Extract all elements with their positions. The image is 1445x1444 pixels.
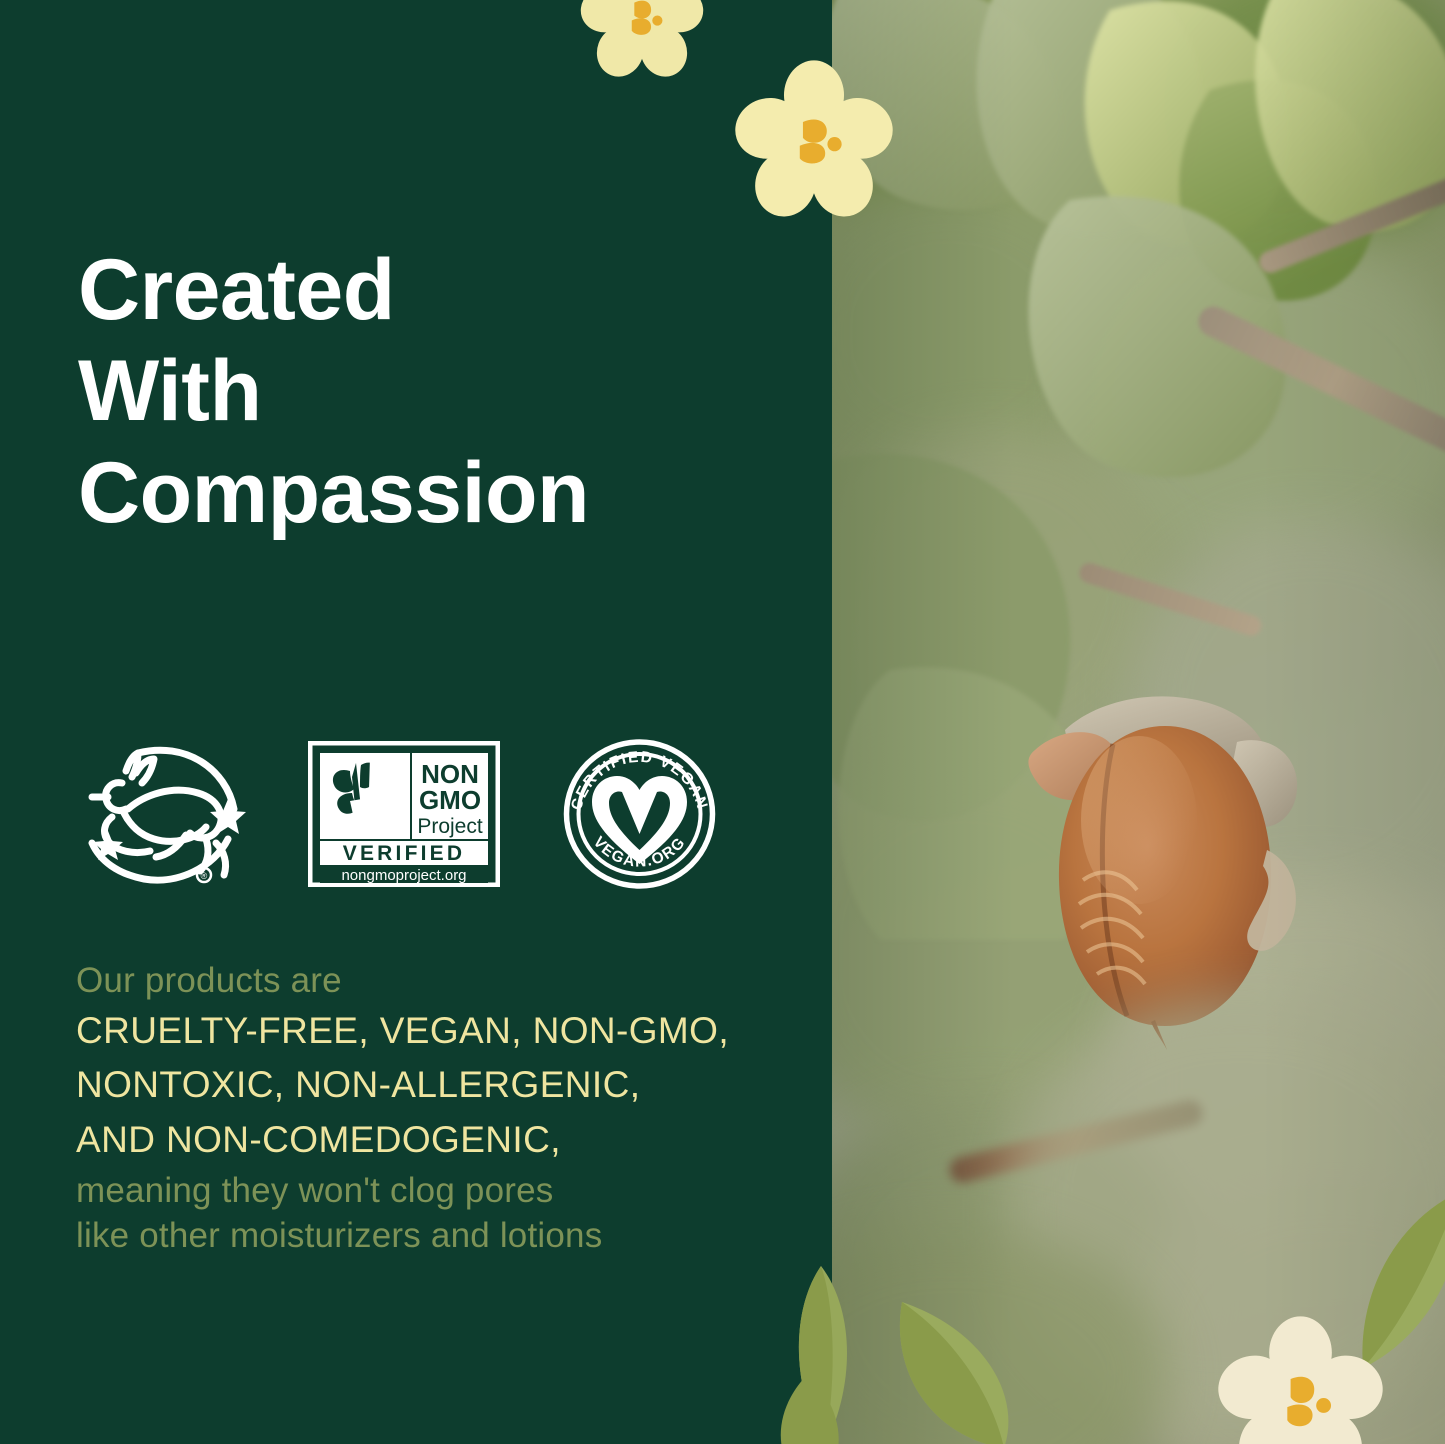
flower-top-left-icon [578, 0, 706, 82]
copy-caps-line-2: NONTOXIC, NON-ALLERGENIC, [76, 1058, 836, 1113]
non-gmo-line-project: Project [417, 815, 483, 838]
headline-line-1: Created [78, 240, 818, 341]
copy-lead: Our products are [76, 958, 836, 1004]
non-gmo-line-gmo: GMO [419, 785, 481, 815]
flower-top-right-icon [735, 62, 893, 220]
copy-caps-line-3: AND NON-COMEDOGENIC, [76, 1113, 836, 1168]
registered-mark: ® [201, 871, 208, 881]
flower-bottom-right-icon [1218, 1318, 1383, 1444]
headline-line-3: Compassion [78, 443, 818, 544]
certification-badges: ® NON G [78, 738, 717, 895]
page-title: Created With Compassion [78, 240, 818, 544]
non-gmo-badge: NON GMO Project VERIFIED nongmoproject.o… [308, 741, 500, 892]
copy-caps-line-1: CRUELTY-FREE, VEGAN, NON-GMO, [76, 1004, 836, 1059]
copy-tail-line-2: like other moisturizers and lotions [76, 1213, 836, 1259]
certified-vegan-badge: CERTIFIED VEGAN VEGAN.ORG [562, 738, 717, 895]
body-copy: Our products are CRUELTY-FREE, VEGAN, NO… [76, 958, 836, 1259]
copy-tail: meaning they won't clog pores like other… [76, 1168, 836, 1259]
jojoba-photo [830, 0, 1445, 1444]
photo-vignette [830, 0, 1445, 1444]
copy-tail-line-1: meaning they won't clog pores [76, 1168, 836, 1214]
non-gmo-line-url: nongmoproject.org [341, 867, 466, 884]
non-gmo-line-verified: VERIFIED [343, 842, 465, 865]
created-with-compassion-poster: Created With Compassion [0, 0, 1445, 1444]
leaf-bottom-center-icon [888, 1300, 1024, 1444]
headline-line-2: With [78, 341, 818, 442]
leaf-bottom-small-icon [760, 1372, 856, 1444]
leaping-bunny-icon: ® [78, 739, 246, 894]
copy-claims: CRUELTY-FREE, VEGAN, NON-GMO, NONTOXIC, … [76, 1004, 836, 1168]
